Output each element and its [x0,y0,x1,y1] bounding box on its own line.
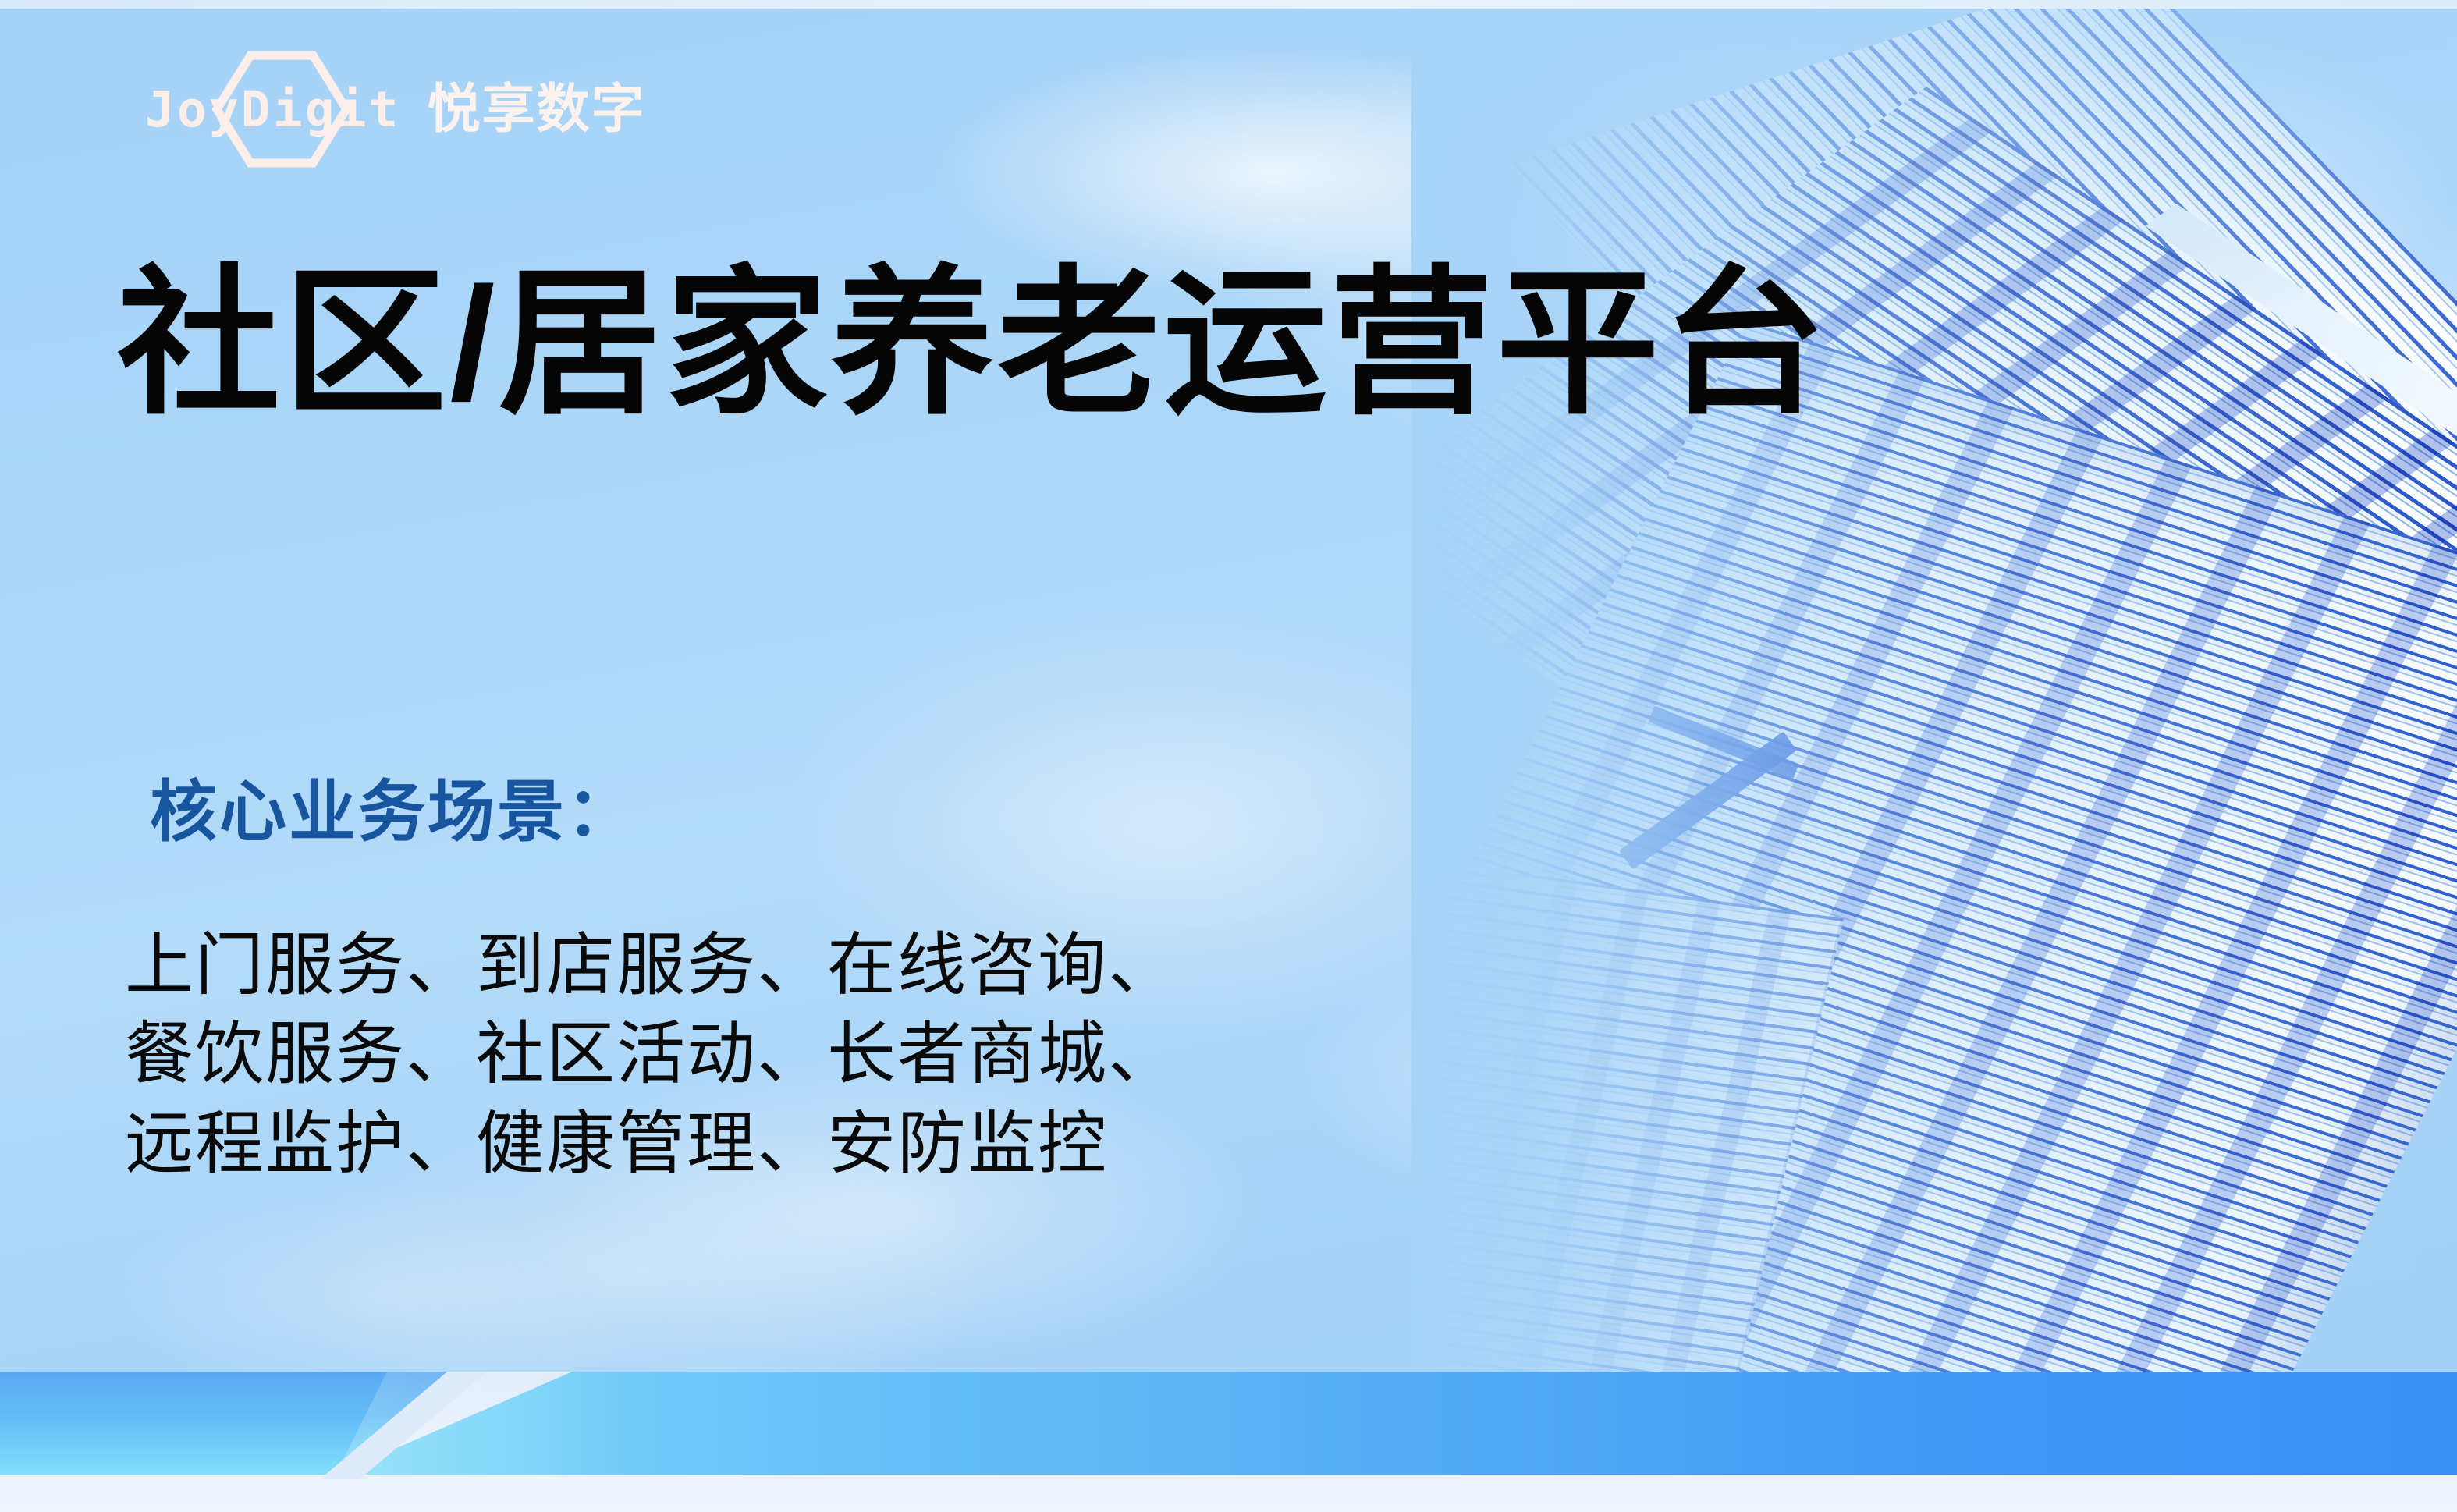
bottom-band-zone [0,1372,2457,1512]
logo-wordmark-cn: 悦享数字 [427,83,645,136]
section-label: 核心业务场景： [150,779,636,846]
scenario-line: 餐饮服务、社区活动、长者商城、 [125,1010,1178,1099]
brand-logo: JoyDigit 悦享数字 [145,66,645,152]
slide-canvas: JoyDigit 悦享数字 社区/居家养老运营平台 核心业务场景： 上门服务、到… [0,0,2457,1512]
scenario-line: 远程监护、健康管理、安防监控 [125,1099,1178,1188]
skyscraper-photo [1411,9,2457,1372]
top-edge-strip [0,0,2457,9]
page-title: 社区/居家养老运营平台 [117,257,1829,430]
logo-wordmark-en: JoyDigit [145,85,400,134]
scenario-list: 上门服务、到店服务、在线咨询、 餐饮服务、社区活动、长者商城、 远程监护、健康管… [125,921,1178,1188]
bottom-band-right [336,1372,2457,1475]
scenario-line: 上门服务、到店服务、在线咨询、 [125,921,1178,1010]
